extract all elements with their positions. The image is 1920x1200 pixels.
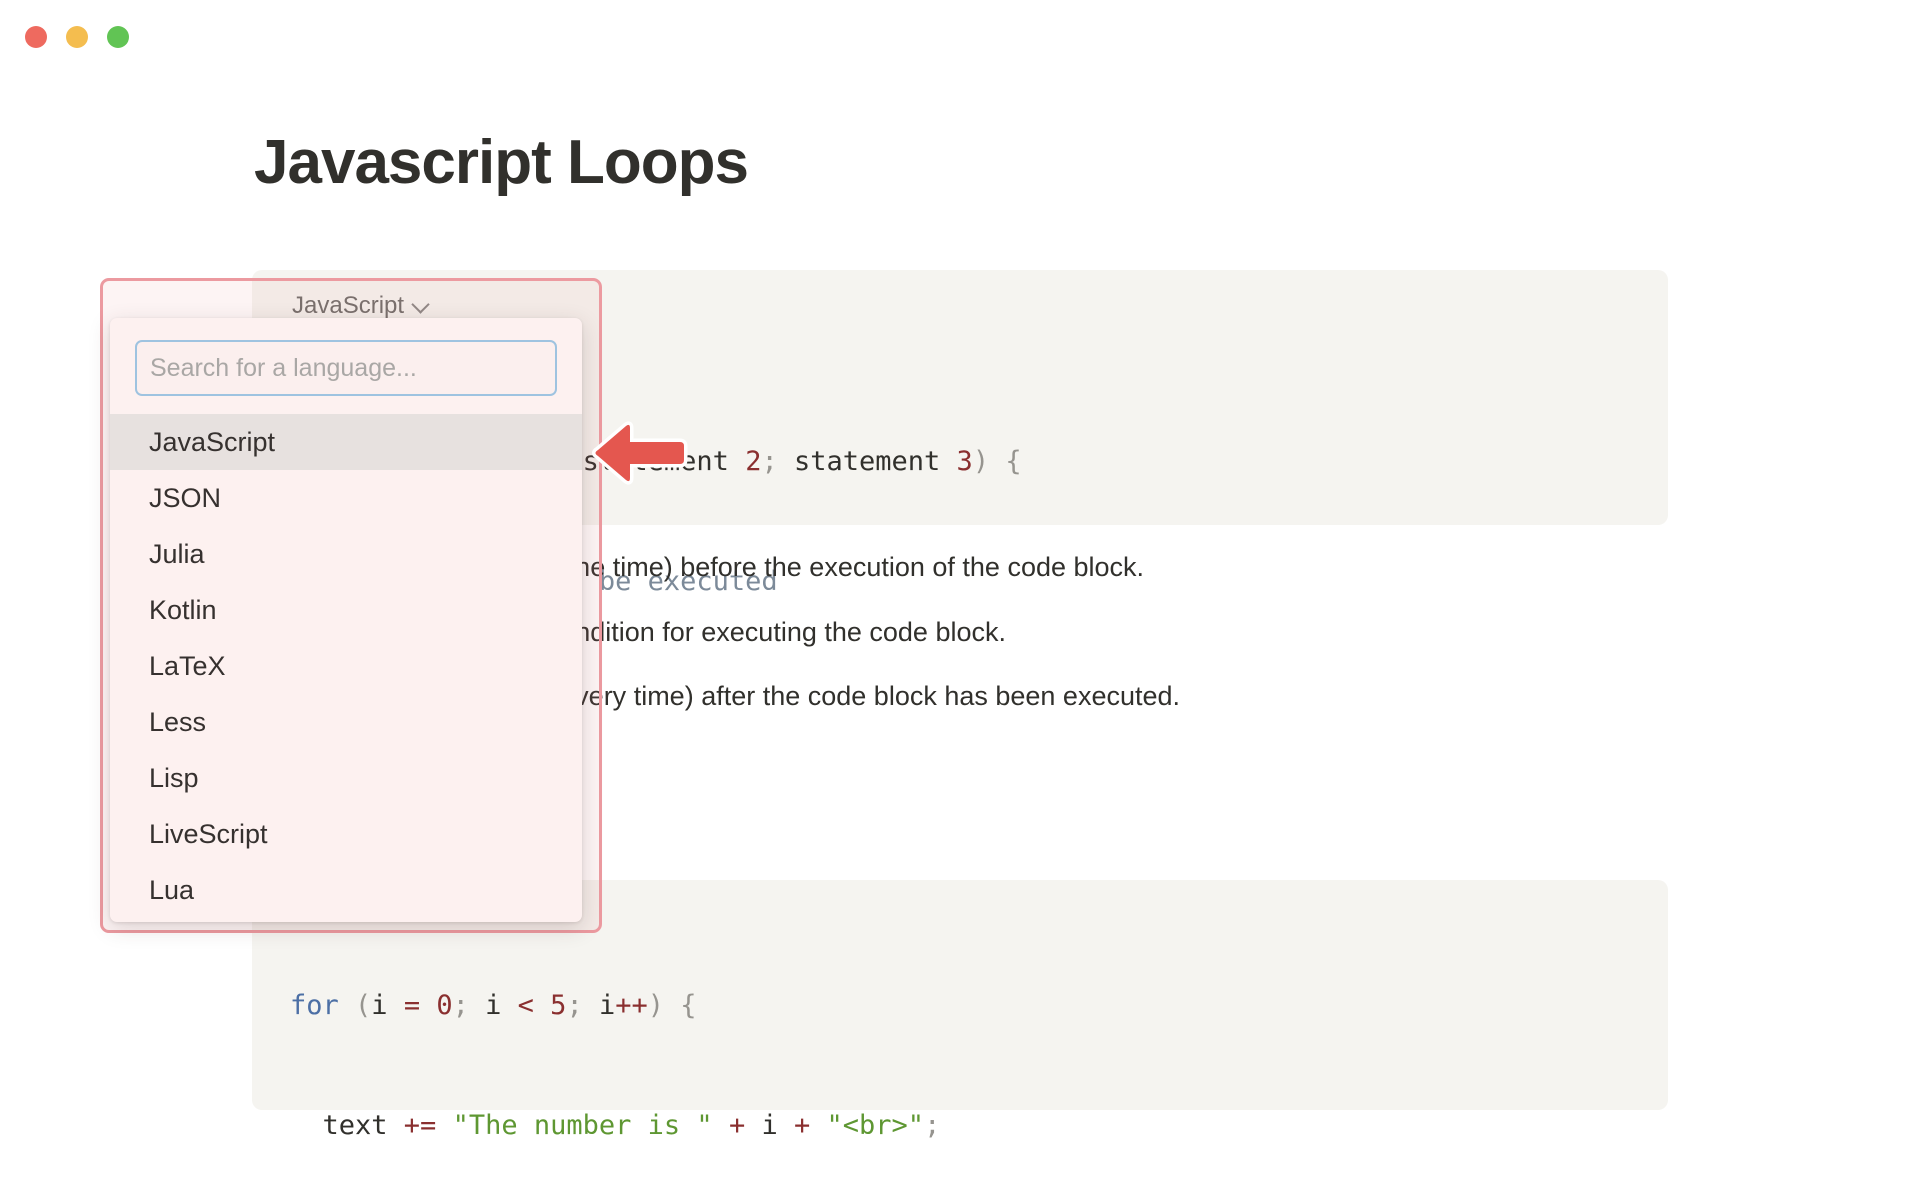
list-item[interactable]: Kotlin [110, 582, 582, 638]
list-item[interactable]: LiveScript [110, 806, 582, 862]
minimize-window-button[interactable] [66, 26, 88, 48]
title-bar [0, 0, 1920, 74]
app-window: Javascript Loops JavaScript for (stateme… [0, 0, 1920, 1200]
list-item[interactable]: JSON [110, 470, 582, 526]
close-window-button[interactable] [25, 26, 47, 48]
page-title: Javascript Loops [254, 128, 748, 197]
list-item[interactable]: Lua [110, 862, 582, 918]
code-line-2: text += "The number is " + i + "<br>"; [290, 1106, 1630, 1146]
search-input[interactable] [135, 340, 557, 396]
traffic-light-controls [25, 26, 129, 48]
list-item[interactable]: LaTeX [110, 638, 582, 694]
chevron-down-icon [413, 295, 429, 311]
annotation-arrow-left-icon [588, 420, 688, 486]
list-item[interactable]: Julia [110, 526, 582, 582]
language-list: JavaScript JSON Julia Kotlin LaTeX Less … [110, 414, 582, 918]
language-dropdown-panel: JavaScript JSON Julia Kotlin LaTeX Less … [110, 318, 582, 922]
list-item[interactable]: Lisp [110, 750, 582, 806]
maximize-window-button[interactable] [107, 26, 129, 48]
list-item[interactable]: JavaScript [110, 414, 582, 470]
code-line-1: for (i = 0; i < 5; i++) { [290, 986, 1630, 1026]
search-field-container [110, 318, 582, 414]
list-item[interactable]: Less [110, 694, 582, 750]
